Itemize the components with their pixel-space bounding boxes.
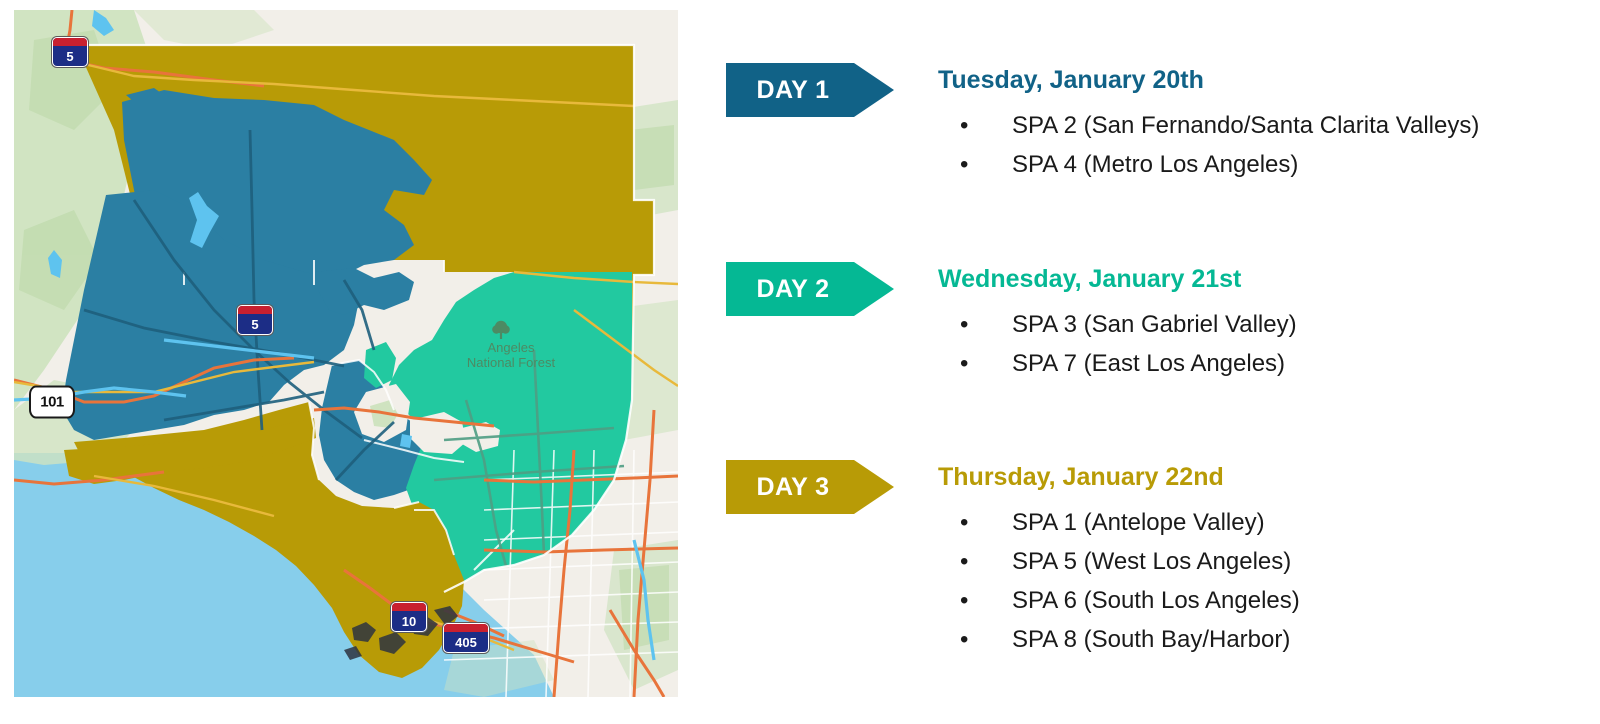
interstate-405-shield: 405 — [443, 623, 489, 653]
list-item-label: SPA 3 (San Gabriel Valley) — [1012, 311, 1297, 338]
shield-number: 405 — [455, 636, 477, 652]
bullet-icon: • — [960, 503, 968, 542]
interstate-10-shield: 10 — [391, 602, 427, 632]
interstate-5-shield-central: 5 — [237, 305, 273, 335]
day-3-heading: Thursday, January 22nd — [938, 463, 1224, 492]
list-item: • SPA 7 (East Los Angeles) — [938, 344, 1297, 383]
day-3-banner-label: DAY 3 — [757, 475, 830, 500]
day-2-banner-label: DAY 2 — [757, 277, 830, 302]
day-2-heading: Wednesday, January 21st — [938, 265, 1241, 294]
list-item-label: SPA 4 (Metro Los Angeles) — [1012, 151, 1298, 178]
list-item-label: SPA 8 (South Bay/Harbor) — [1012, 626, 1290, 653]
day-2-banner[interactable]: DAY 2 — [726, 262, 894, 316]
list-item: • SPA 4 (Metro Los Angeles) — [938, 145, 1479, 184]
shield-number: 5 — [66, 50, 73, 66]
list-item-label: SPA 7 (East Los Angeles) — [1012, 350, 1285, 377]
bullet-icon: • — [960, 305, 968, 344]
map-canvas — [14, 10, 678, 697]
list-item-label: SPA 5 (West Los Angeles) — [1012, 548, 1291, 575]
bullet-icon: • — [960, 542, 968, 581]
list-item-label: SPA 6 (South Los Angeles) — [1012, 587, 1300, 614]
bullet-icon: • — [960, 344, 968, 383]
list-item: • SPA 2 (San Fernando/Santa Clarita Vall… — [938, 106, 1479, 145]
day-1-banner-label: DAY 1 — [757, 78, 830, 103]
interstate-5-shield-north: 5 — [52, 37, 88, 67]
day-1-banner[interactable]: DAY 1 — [726, 63, 894, 117]
list-item: • SPA 5 (West Los Angeles) — [938, 542, 1300, 581]
day-1-list: • SPA 2 (San Fernando/Santa Clarita Vall… — [938, 106, 1479, 184]
list-item-label: SPA 2 (San Fernando/Santa Clarita Valley… — [1012, 112, 1479, 139]
shield-number: 10 — [402, 615, 416, 631]
list-item: • SPA 8 (South Bay/Harbor) — [938, 620, 1300, 659]
day-2-list: • SPA 3 (San Gabriel Valley) • SPA 7 (Ea… — [938, 305, 1297, 383]
list-item: • SPA 3 (San Gabriel Valley) — [938, 305, 1297, 344]
tree-icon — [492, 320, 510, 345]
list-item-label: SPA 1 (Antelope Valley) — [1012, 509, 1265, 536]
map-panel[interactable]: 5 101 5 10 405 Angeles National Forest — [14, 10, 678, 697]
day-3-banner[interactable]: DAY 3 — [726, 460, 894, 514]
us-101-shield: 101 — [29, 386, 75, 419]
list-item: • SPA 6 (South Los Angeles) — [938, 581, 1300, 620]
day-1-heading: Tuesday, January 20th — [938, 66, 1204, 95]
shield-number: 5 — [251, 318, 258, 334]
day-3-list: • SPA 1 (Antelope Valley) • SPA 5 (West … — [938, 503, 1300, 659]
schedule-legend: DAY 1 Tuesday, January 20th • SPA 2 (San… — [726, 0, 1586, 724]
shield-number: 101 — [40, 395, 64, 410]
bullet-icon: • — [960, 581, 968, 620]
list-item: • SPA 1 (Antelope Valley) — [938, 503, 1300, 542]
bullet-icon: • — [960, 620, 968, 659]
bullet-icon: • — [960, 145, 968, 184]
bullet-icon: • — [960, 106, 968, 145]
